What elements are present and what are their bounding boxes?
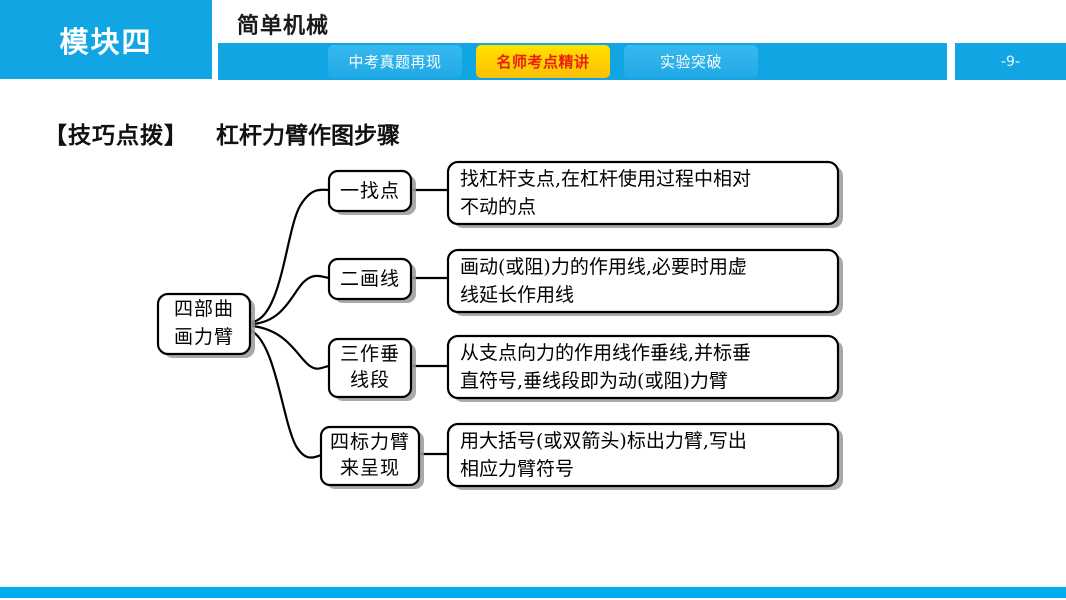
step-node-3-label-line1: 三作垂 [340, 343, 400, 365]
bottom-accent-bar [0, 587, 1066, 598]
step-desc-2[interactable]: 画动(或阻)力的作用线,必要时用虚 线延长作用线 [448, 250, 843, 316]
step-node-4-shadow [326, 431, 424, 489]
step-node-2-shadow [334, 263, 416, 303]
root-node-shadow [163, 298, 255, 358]
step-desc-2-shadow [453, 254, 843, 316]
node-to-desc-link-group [413, 190, 448, 454]
root-node-line2: 画力臂 [174, 326, 234, 348]
step-desc-2-box [448, 250, 838, 312]
step-node-2[interactable]: 二画线 [329, 259, 416, 303]
step-desc-4[interactable]: 用大括号(或双箭头)标出力臂,写出 相应力臂符号 [448, 424, 843, 490]
step-node-1-label: 一找点 [340, 180, 400, 202]
step-desc-2-line1: 画动(或阻)力的作用线,必要时用虚 [460, 256, 747, 278]
chapter-title: 简单机械 [237, 8, 329, 40]
connector-to-step-4 [250, 330, 326, 458]
step-desc-3-box [448, 336, 838, 398]
tab-label: 名师考点精讲 [496, 51, 589, 72]
step-desc-4-shadow [453, 428, 843, 490]
connector-to-step-2 [252, 276, 330, 324]
step-desc-3-line2: 直符号,垂线段即为动(或阻)力臂 [460, 370, 728, 392]
tab-zhongkao-zhenti-zaixian[interactable]: 中考真题再现 [328, 45, 462, 78]
step-node-1[interactable]: 一找点 [329, 171, 416, 215]
page-number-box: -9- [955, 43, 1066, 80]
root-node-line1: 四部曲 [174, 298, 234, 320]
step-node-4-label-line2: 来呈现 [340, 457, 400, 479]
step-desc-4-box [448, 424, 838, 486]
step-node-4-label-line1: 四标力臂 [330, 431, 410, 453]
step-node-3-label-line2: 线段 [350, 369, 390, 391]
connector-to-step-3 [252, 326, 330, 369]
step-desc-2-line2: 线延长作用线 [460, 284, 574, 306]
step-desc-4-line2: 相应力臂符号 [460, 458, 574, 480]
step-node-2-box [329, 259, 411, 299]
tab-list: 中考真题再现 名师考点精讲 实验突破 [218, 43, 758, 80]
step-desc-1-box [448, 162, 838, 224]
step-desc-1-shadow [453, 166, 843, 228]
step-desc-3[interactable]: 从支点向力的作用线作垂线,并标垂 直符号,垂线段即为动(或阻)力臂 [448, 336, 843, 402]
step-desc-1-line2: 不动的点 [460, 196, 536, 218]
connector-group [250, 190, 330, 458]
section-title: 【技巧点拨】杠杆力臂作图步骤 [44, 116, 400, 150]
step-node-1-shadow [334, 175, 416, 215]
tip-topic: 杠杆力臂作图步骤 [216, 123, 400, 149]
tab-label: 中考真题再现 [348, 51, 441, 72]
step-node-4-box [321, 427, 419, 485]
diagram-canvas: 四部曲 画力臂 一找点 找杠杆支点,在杠杆使用过程中相对 不动的点 二画线 画动… [0, 0, 1066, 600]
module-badge-label: 模块四 [59, 19, 152, 61]
step-node-3-shadow [334, 343, 416, 401]
step-node-1-box [329, 171, 411, 211]
step-desc-3-line1: 从支点向力的作用线作垂线,并标垂 [460, 342, 751, 364]
tab-label: 实验突破 [660, 51, 722, 72]
step-desc-1[interactable]: 找杠杆支点,在杠杆使用过程中相对 不动的点 [448, 162, 843, 228]
nav-bar: 中考真题再现 名师考点精讲 实验突破 [218, 43, 947, 80]
page-number-label: -9- [1001, 54, 1020, 70]
tab-mingshi-kaodian-jingjiang[interactable]: 名师考点精讲 [476, 45, 610, 78]
step-node-3[interactable]: 三作垂 线段 [329, 339, 416, 401]
step-desc-3-shadow [453, 340, 843, 402]
step-node-3-box [329, 339, 411, 397]
step-desc-1-line1: 找杠杆支点,在杠杆使用过程中相对 [460, 168, 751, 190]
root-node[interactable]: 四部曲 画力臂 [158, 294, 255, 358]
step-desc-4-line1: 用大括号(或双箭头)标出力臂,写出 [460, 430, 747, 452]
connector-to-step-1 [252, 190, 330, 322]
lever-arm-steps-diagram: 四部曲 画力臂 一找点 找杠杆支点,在杠杆使用过程中相对 不动的点 二画线 画动… [0, 0, 1066, 600]
step-node-2-label: 二画线 [340, 268, 400, 290]
tab-shiyan-tupo[interactable]: 实验突破 [624, 45, 758, 78]
page-header: 模块四 简单机械 中考真题再现 名师考点精讲 实验突破 -9- [0, 0, 1066, 90]
module-badge: 模块四 [0, 0, 212, 79]
step-node-4[interactable]: 四标力臂 来呈现 [321, 427, 424, 489]
tip-label: 【技巧点拨】 [44, 123, 188, 149]
root-node-box [158, 294, 250, 354]
